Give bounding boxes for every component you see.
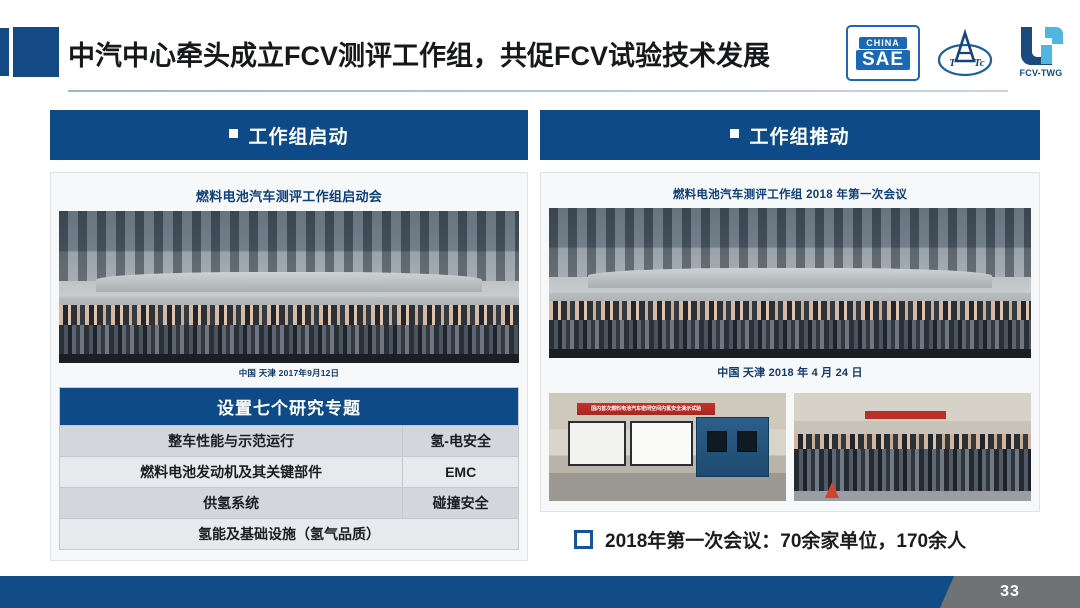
- title-underline: [68, 90, 1008, 92]
- fcv-twg-logo: FCV-TWG: [1010, 25, 1072, 81]
- right-photo-title: 燃料电池汽车测评工作组 2018 年第一次会议: [549, 181, 1031, 208]
- test-hall-scene: 国内首次燃料电池汽车密闭空间内氢安全演示试验: [549, 393, 786, 501]
- kickoff-meeting-photo: [59, 211, 519, 363]
- china-sae-logo-line2: SAE: [856, 50, 910, 70]
- fcv-twg-logo-caption: FCV-TWG: [1020, 68, 1063, 78]
- right-photo-card: 燃料电池汽车测评工作组 2018 年第一次会议 中国 天津 2018 年 4 月…: [540, 172, 1040, 512]
- square-bullet-icon: [229, 129, 238, 138]
- red-banner: 国内首次燃料电池汽车密闭空间内氢安全演示试验: [577, 403, 714, 415]
- audience-image: [794, 393, 1031, 501]
- topic-cell-left: 燃料电池发动机及其关键部件: [60, 457, 403, 488]
- topic-cell-right: 碰撞安全: [403, 488, 519, 519]
- red-banner-text: 国内首次燃料电池汽车密闭空间内氢安全演示试验: [577, 403, 714, 415]
- square-bullet-icon: [730, 129, 739, 138]
- square-outline-bullet-icon: [574, 530, 593, 549]
- table-row: 供氢系统 碰撞安全: [60, 488, 519, 519]
- table-row: 氢能及基础设施（氢气品质）: [60, 519, 519, 550]
- right-column-heading-label: 工作组推动: [749, 122, 849, 149]
- china-sae-logo: CHINA SAE: [846, 25, 920, 81]
- catarc-logo: T Tc: [936, 27, 994, 79]
- sub-photo-group: 国内首次燃料电池汽车密闭空间内氢安全演示试验: [549, 393, 1031, 501]
- right-column-heading: 工作组推动: [540, 110, 1040, 160]
- left-column-heading: 工作组启动: [50, 110, 528, 160]
- table-row: 整车性能与示范运行 氢-电安全: [60, 426, 519, 457]
- right-bullet-label: 2018年第一次会议：70余家单位，170余人: [605, 526, 966, 553]
- projection-screen-right: [630, 421, 693, 466]
- topic-cell-left: 整车性能与示范运行: [60, 426, 403, 457]
- traffic-cone-icon: [825, 482, 839, 498]
- topics-table-title: 设置七个研究专题: [60, 388, 519, 426]
- right-column: 工作组推动 燃料电池汽车测评工作组 2018 年第一次会议 中国 天津 2018…: [540, 110, 1040, 553]
- left-column-heading-label: 工作组启动: [248, 122, 348, 149]
- slide-header: 中汽中心牵头成立FCV测评工作组，共促FCV试验技术发展 CHINA SAE T…: [0, 14, 1080, 76]
- topic-cell-right: EMC: [403, 457, 519, 488]
- logo-group: CHINA SAE T Tc FCV-TWG: [846, 22, 1072, 84]
- title-accent-bar-thin: [0, 28, 9, 76]
- page-title: 中汽中心牵头成立FCV测评工作组，共促FCV试验技术发展: [68, 30, 770, 76]
- topics-table-header-row: 设置七个研究专题: [60, 388, 519, 426]
- left-photo-card: 燃料电池汽车测评工作组启动会 中国 天津 2017年9月12日 设置七个研究专题…: [50, 172, 528, 561]
- left-photo-caption: 中国 天津 2017年9月12日: [59, 363, 519, 381]
- table-row: 燃料电池发动机及其关键部件 EMC: [60, 457, 519, 488]
- slide-footer: 33: [0, 576, 1080, 608]
- first-meeting-2018-photo: [549, 208, 1031, 358]
- audience-photo: [794, 393, 1031, 501]
- test-chamber: [696, 417, 769, 477]
- page-number-tab: 33: [940, 576, 1080, 608]
- topic-cell-left: 供氢系统: [60, 488, 403, 519]
- hydrogen-safety-demo-image: 国内首次燃料电池汽车密闭空间内氢安全演示试验: [549, 393, 786, 501]
- research-topics-table: 设置七个研究专题 整车性能与示范运行 氢-电安全 燃料电池发动机及其关键部件 E…: [59, 387, 519, 550]
- topic-cell-right: 氢-电安全: [403, 426, 519, 457]
- left-column: 工作组启动 燃料电池汽车测评工作组启动会 中国 天津 2017年9月12日 设置…: [50, 110, 528, 602]
- projection-screen-left: [568, 421, 627, 466]
- red-banner: [865, 411, 946, 419]
- china-sae-logo-line1: CHINA: [859, 37, 907, 49]
- left-photo-title: 燃料电池汽车测评工作组启动会: [59, 181, 519, 211]
- svg-text:Tc: Tc: [974, 57, 985, 69]
- page-number: 33: [1000, 583, 1020, 601]
- slide-root: 中汽中心牵头成立FCV测评工作组，共促FCV试验技术发展 CHINA SAE T…: [0, 0, 1080, 608]
- group-photo-crowd: [549, 301, 1031, 358]
- title-accent-block: [13, 27, 59, 77]
- right-bullet: 2018年第一次会议：70余家单位，170余人: [540, 526, 1040, 553]
- topic-cell-full: 氢能及基础设施（氢气品质）: [60, 519, 519, 550]
- audience-scene: [794, 393, 1031, 501]
- group-photo-crowd: [59, 305, 519, 363]
- hydrogen-safety-demo-photo: 国内首次燃料电池汽车密闭空间内氢安全演示试验: [549, 393, 786, 501]
- right-photo-caption: 中国 天津 2018 年 4 月 24 日: [549, 358, 1031, 383]
